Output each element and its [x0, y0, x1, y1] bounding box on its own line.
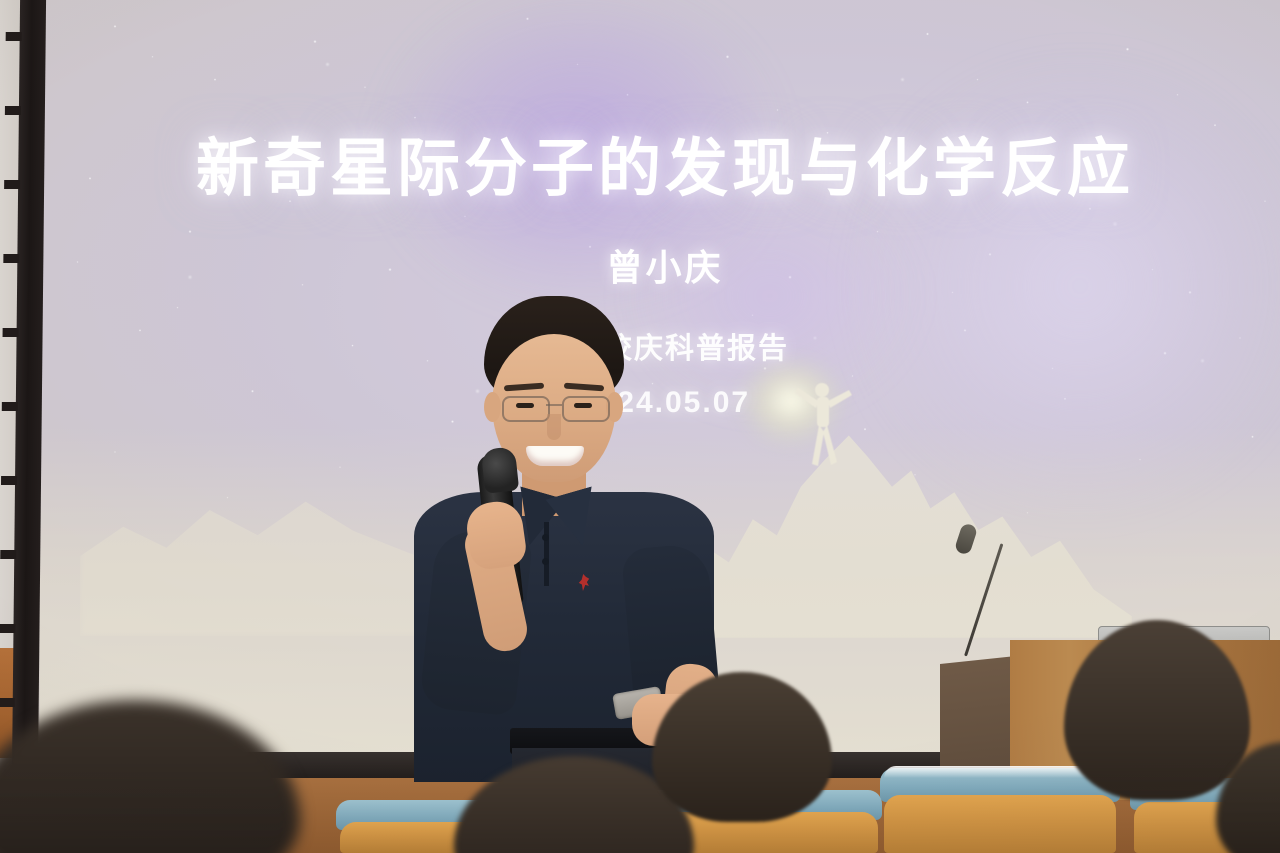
slide-title: 新奇星际分子的发现与化学反应	[40, 118, 1280, 209]
lecture-hall-photo: 新奇星际分子的发现与化学反应 曾小庆 大学校庆科普报告 2024.05.07	[0, 0, 1280, 853]
polo-button-bottom	[542, 558, 549, 565]
slide-speaker-name: 曾小庆	[40, 239, 1280, 291]
seat-back	[884, 795, 1116, 853]
presenter-smile	[526, 446, 584, 466]
polo-placket	[544, 522, 549, 586]
presenter-nose	[547, 414, 561, 440]
glasses-lens-left-icon	[502, 396, 550, 422]
polo-button-top	[542, 534, 549, 541]
glasses-lens-right-icon	[562, 396, 610, 422]
presenter-ear-left	[484, 392, 501, 422]
glasses-bridge-icon	[546, 404, 562, 406]
